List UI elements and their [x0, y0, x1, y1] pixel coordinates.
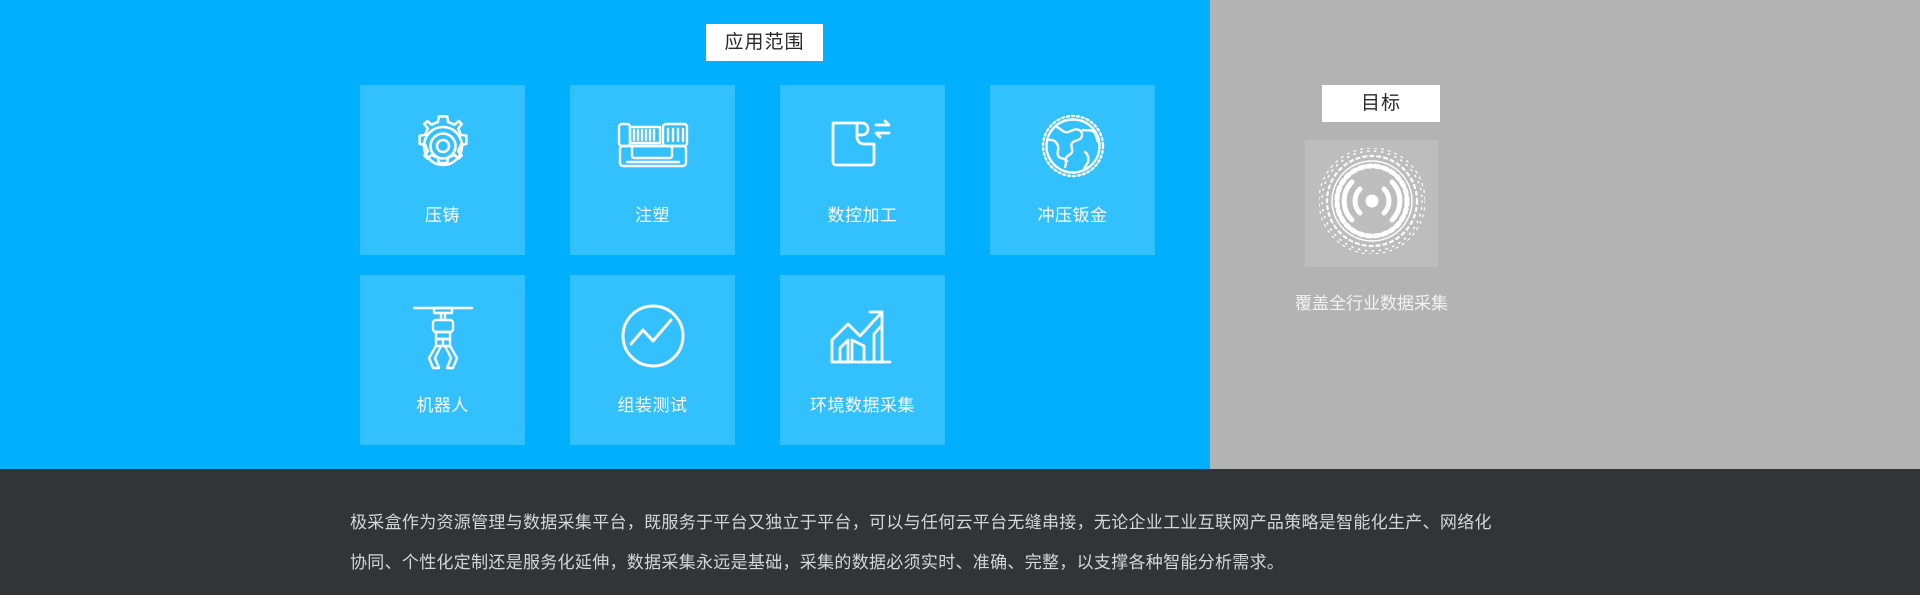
- tile-environment-data-collection[interactable]: 环境数据采集: [780, 275, 945, 445]
- goal-badge: 目标: [1322, 85, 1440, 122]
- broadcast-signal-icon: [1319, 148, 1425, 259]
- footer-line: 协同、个性化定制还是服务化延伸，数据采集永远是基础，采集的数据必须实时、准确、完…: [350, 543, 1570, 583]
- tile-label: 注塑: [635, 201, 670, 226]
- gear-icon: [404, 107, 482, 185]
- tile-label: 冲压钣金: [1038, 201, 1108, 226]
- tile-label: 环境数据采集: [810, 391, 915, 416]
- globe-icon: [1034, 107, 1112, 185]
- tile-robot[interactable]: 机器人: [360, 275, 525, 445]
- scope-panel: 应用范围 压铸: [0, 0, 1210, 469]
- robot-gripper-icon: [404, 297, 482, 375]
- cnc-machining-icon: [824, 107, 902, 185]
- page-root: 应用范围 压铸: [0, 0, 1920, 595]
- tile-label: 压铸: [425, 201, 460, 226]
- tile-injection-molding[interactable]: 注塑: [570, 85, 735, 255]
- footer-text-block: 极采盒作为资源管理与数据采集平台，既服务于平台又独立于平台，可以与任何云平台无缝…: [350, 469, 1570, 583]
- footer-line: 极采盒作为资源管理与数据采集平台，既服务于平台又独立于平台，可以与任何云平台无缝…: [350, 503, 1570, 543]
- footer-description: 极采盒作为资源管理与数据采集平台，既服务于平台又独立于平台，可以与任何云平台无缝…: [0, 469, 1920, 595]
- panels-container: 应用范围 压铸: [0, 0, 1920, 469]
- bar-growth-chart-icon: [824, 297, 902, 375]
- goal-tile: [1305, 140, 1438, 267]
- goal-card[interactable]: 覆盖全行业数据采集: [1305, 140, 1438, 314]
- tile-assembly-test[interactable]: 组装测试: [570, 275, 735, 445]
- injection-molding-machine-icon: [614, 107, 692, 185]
- goal-card-label: 覆盖全行业数据采集: [1295, 289, 1448, 314]
- scope-tile-grid: 压铸: [360, 85, 1160, 445]
- tile-label: 组装测试: [618, 391, 688, 416]
- tile-cnc-machining[interactable]: 数控加工: [780, 85, 945, 255]
- tile-die-casting[interactable]: 压铸: [360, 85, 525, 255]
- goal-panel: 目标: [1210, 0, 1920, 469]
- circle-line-chart-icon: [614, 297, 692, 375]
- scope-badge: 应用范围: [706, 24, 823, 61]
- tile-stamping-sheet-metal[interactable]: 冲压钣金: [990, 85, 1155, 255]
- tile-label: 数控加工: [828, 201, 898, 226]
- tile-label: 机器人: [416, 391, 469, 416]
